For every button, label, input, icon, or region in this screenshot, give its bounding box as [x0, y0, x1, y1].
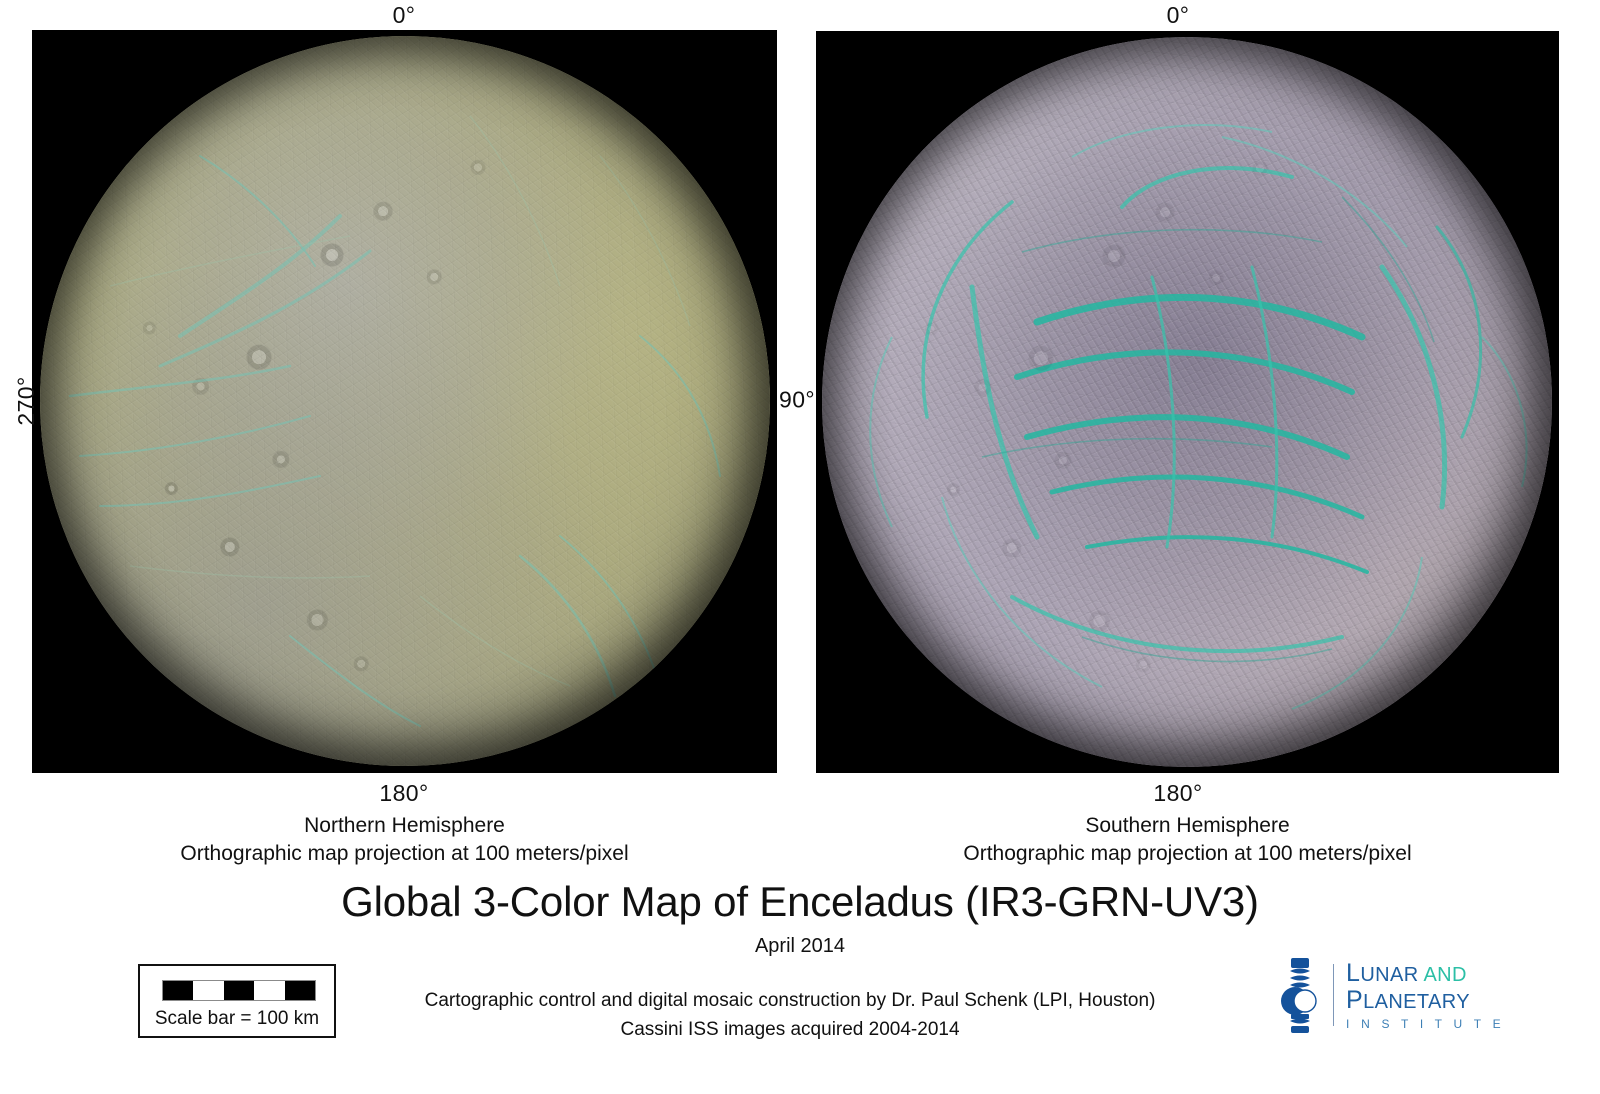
- credits-block: Cartographic control and digital mosaic …: [340, 986, 1240, 1044]
- globe-southern-hemisphere: [822, 37, 1552, 767]
- scale-bar: Scale bar = 100 km: [138, 964, 336, 1038]
- credits-line-author: Cartographic control and digital mosaic …: [340, 986, 1240, 1015]
- lpi-logo-mark-icon: [1275, 956, 1325, 1034]
- degree-label-south-bottom: 180°: [1153, 780, 1202, 807]
- lpi-wordmark-line-2: PLANETARY: [1346, 988, 1525, 1013]
- degree-label-north-bottom: 180°: [379, 780, 428, 807]
- lpi-wordmark-line-3: I N S T I T U T E: [1346, 1018, 1525, 1030]
- lpi-l2-rest: LANETARY: [1363, 991, 1470, 1013]
- lpi-logo: LUNAR AND PLANETARY I N S T I T U T E: [1275, 952, 1525, 1038]
- caption-subtitle-south: Orthographic map projection at 100 meter…: [816, 840, 1559, 868]
- lpi-logo-divider: [1333, 964, 1334, 1026]
- degree-label-center: 90°: [779, 387, 815, 414]
- lpi-wordmark: LUNAR AND PLANETARY I N S T I T U T E: [1346, 961, 1525, 1030]
- lpi-l1-cap: L: [1346, 959, 1360, 987]
- caption-title-south: Southern Hemisphere: [816, 812, 1559, 840]
- scale-bar-segment: [285, 981, 315, 1000]
- degree-label-north-top: 0°: [393, 2, 416, 29]
- scale-bar-segment: [224, 981, 254, 1000]
- scale-bar-label: Scale bar = 100 km: [140, 1008, 334, 1030]
- map-panel-southern-hemisphere: [816, 31, 1559, 773]
- credits-line-source: Cassini ISS images acquired 2004-2014: [340, 1015, 1240, 1044]
- globe-limb-shading-north: [40, 36, 770, 766]
- caption-southern-hemisphere: Southern Hemisphere Orthographic map pro…: [816, 812, 1559, 868]
- lpi-l1-and: AND: [1423, 964, 1466, 986]
- lpi-wordmark-line-1: LUNAR AND: [1346, 961, 1525, 986]
- scale-bar-segment: [193, 981, 223, 1000]
- degree-label-south-right: 270°: [1594, 376, 1600, 425]
- scale-bar-graphic: [162, 980, 316, 1001]
- map-panel-northern-hemisphere: [32, 30, 777, 773]
- degree-label-south-top: 0°: [1167, 2, 1190, 29]
- degree-label-north-left: 270°: [13, 376, 40, 425]
- caption-northern-hemisphere: Northern Hemisphere Orthographic map pro…: [32, 812, 777, 868]
- scale-bar-segment: [163, 981, 193, 1000]
- scale-bar-segment: [254, 981, 284, 1000]
- lpi-l1-rest: UNAR: [1360, 964, 1423, 986]
- page-title: Global 3-Color Map of Enceladus (IR3-GRN…: [0, 878, 1600, 926]
- caption-title-north: Northern Hemisphere: [32, 812, 777, 840]
- globe-limb-shading-south: [822, 37, 1552, 767]
- globe-northern-hemisphere: [40, 36, 770, 766]
- caption-subtitle-north: Orthographic map projection at 100 meter…: [32, 840, 777, 868]
- lpi-l2-cap: P: [1346, 986, 1363, 1014]
